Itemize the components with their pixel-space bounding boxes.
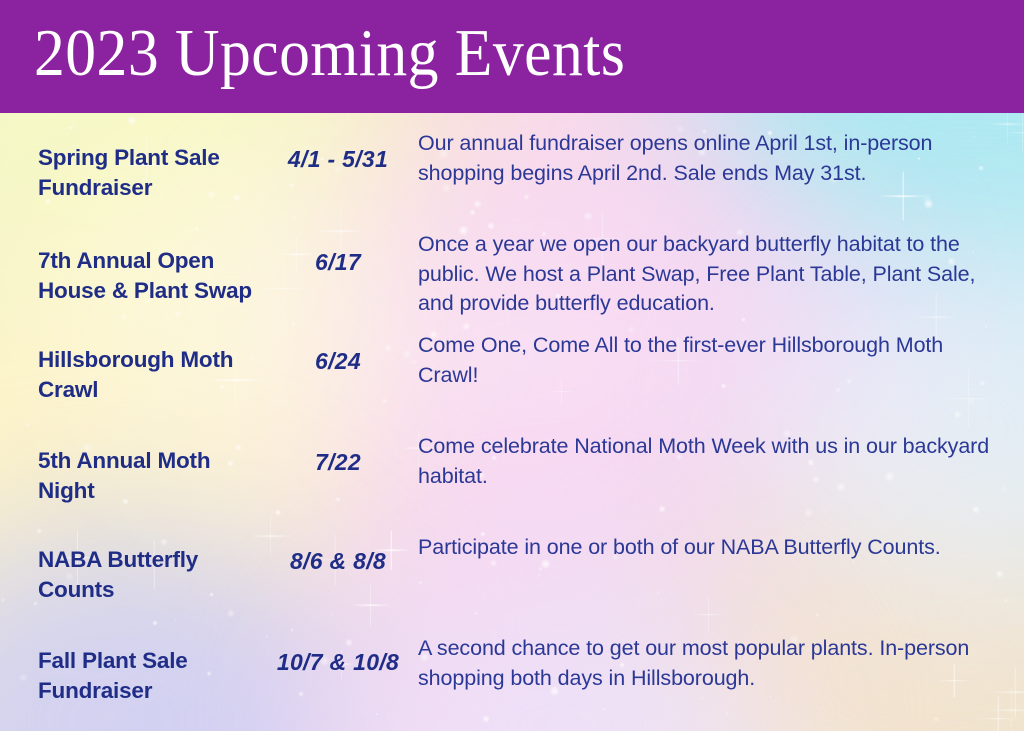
event-description: A second chance to get our most popular … [414,634,1024,693]
event-row: 7th Annual Open House & Plant Swap6/17On… [0,226,1024,327]
event-title: 5th Annual Moth Night [0,432,262,505]
event-date: 6/24 [262,331,414,377]
page-title: 2023 Upcoming Events [34,22,677,89]
event-date: 8/6 & 8/8 [262,533,414,577]
event-title: 7th Annual Open House & Plant Swap [0,230,262,305]
event-row: NABA Butterfly Counts8/6 & 8/8Participat… [0,529,1024,630]
event-date: 10/7 & 10/8 [262,634,414,678]
header-band: 2023 Upcoming Events [0,0,1024,113]
event-date: 4/1 - 5/31 [262,129,414,175]
event-title: Fall Plant Sale Fundraiser [0,634,262,705]
event-title: Hillsborough Moth Crawl [0,331,262,404]
event-description: Come One, Come All to the first-ever Hil… [414,331,1024,390]
events-list: Spring Plant Sale Fundraiser4/1 - 5/31Ou… [0,113,1024,731]
event-description: Once a year we open our backyard butterf… [414,230,1024,319]
page-title-text: 2023 Upcoming Events [34,20,625,87]
event-title: NABA Butterfly Counts [0,533,262,604]
event-description: Come celebrate National Moth Week with u… [414,432,1024,491]
event-description: Our annual fundraiser opens online April… [414,129,1024,188]
events-poster: 2023 Upcoming Events Spring Plant Sale F… [0,0,1024,731]
event-row: Spring Plant Sale Fundraiser4/1 - 5/31Ou… [0,125,1024,226]
event-row: Fall Plant Sale Fundraiser10/7 & 10/8A s… [0,630,1024,731]
event-description: Participate in one or both of our NABA B… [414,533,1024,563]
event-row: 5th Annual Moth Night7/22Come celebrate … [0,428,1024,529]
event-date: 6/17 [262,230,414,278]
event-title: Spring Plant Sale Fundraiser [0,129,262,202]
event-row: Hillsborough Moth Crawl6/24Come One, Com… [0,327,1024,428]
event-date: 7/22 [262,432,414,478]
